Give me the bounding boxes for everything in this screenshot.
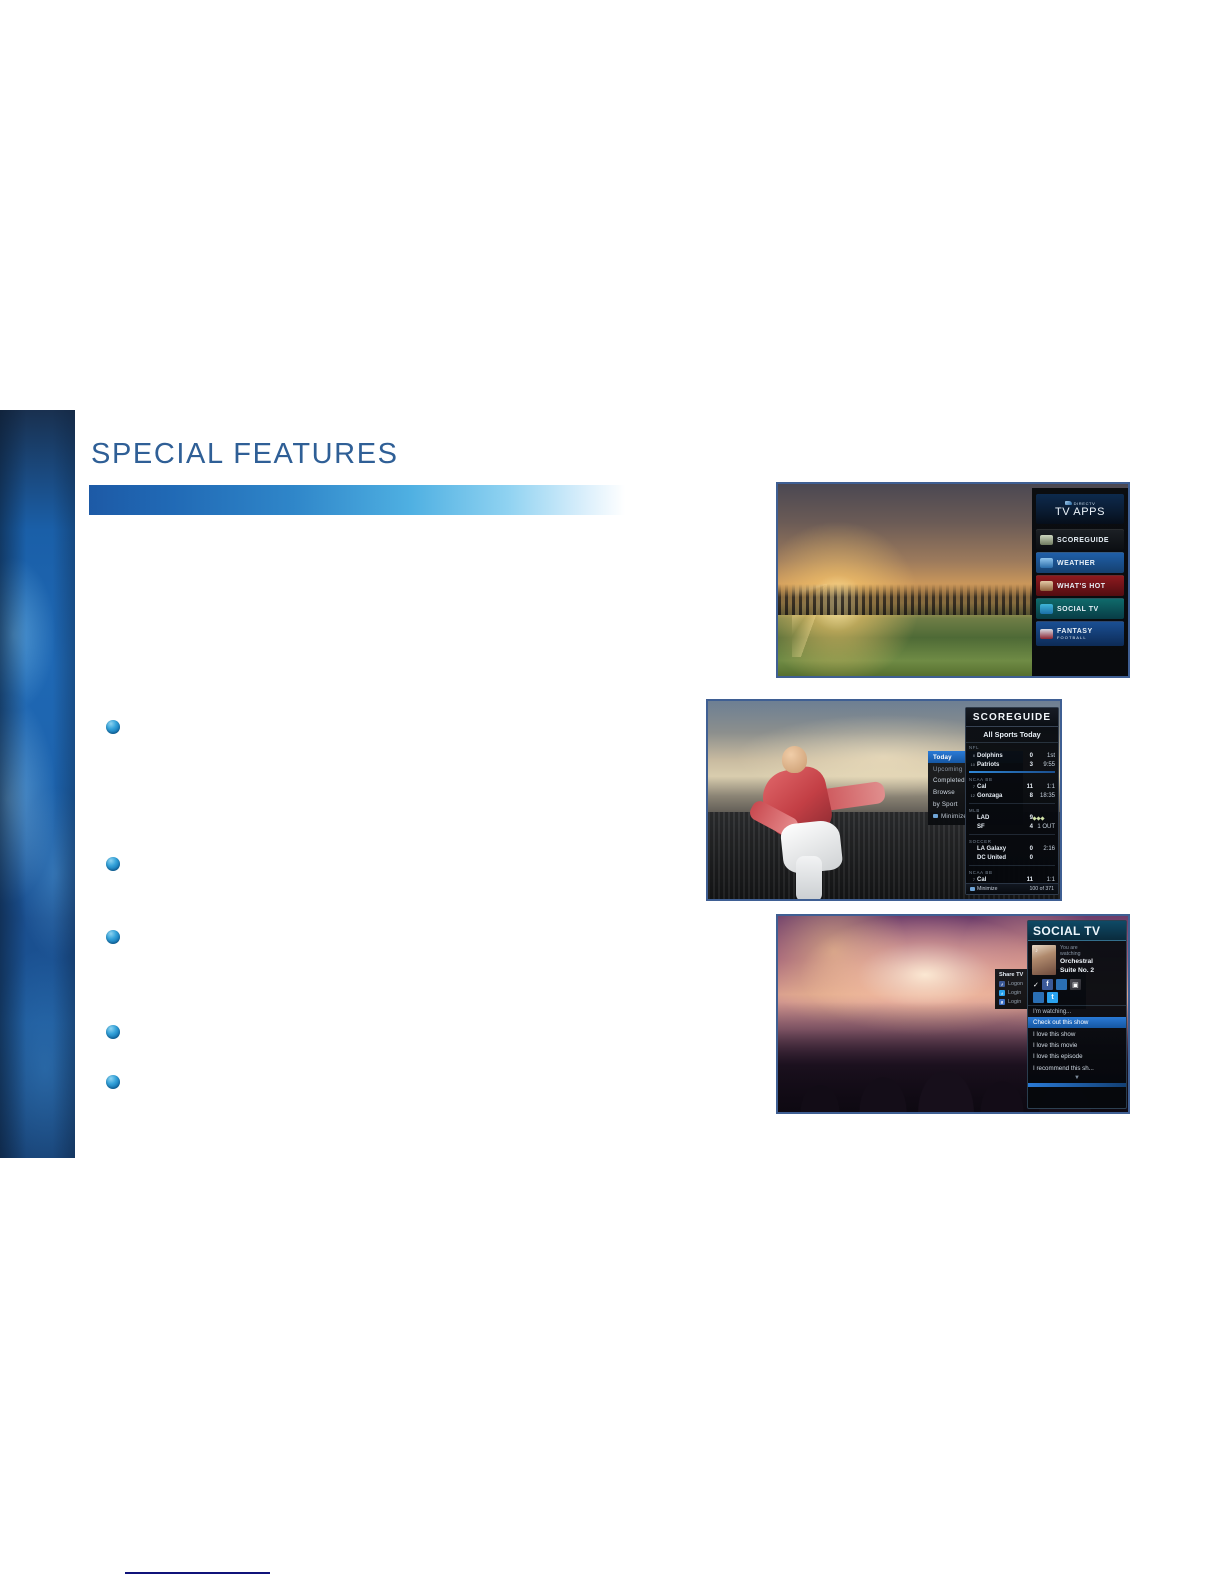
social-tv-panel: SOCIAL TV You are watching Orchestral Su… [1027, 920, 1127, 1109]
table-row[interactable]: 8 Dolphins 0 1st [969, 751, 1055, 760]
team-name: LAD [977, 814, 1021, 822]
league-label: SOCCER [969, 837, 1055, 845]
app-tile-label: SOCIAL TV [1057, 606, 1099, 613]
team-score: 8 [1021, 792, 1033, 800]
divider [969, 865, 1055, 866]
app-tile-social-tv[interactable]: SOCIAL TV [1036, 598, 1124, 619]
program-thumbnail [1032, 945, 1056, 975]
team-name: Dolphins [977, 752, 1021, 760]
table-row[interactable]: 7 Cal 11 1:1 [969, 783, 1055, 792]
bullet-dot-icon [106, 930, 120, 944]
checkbox-toggle[interactable] [1033, 992, 1044, 1003]
app-tile-fantasy-football[interactable]: FANTASY FOOTBALL [1036, 621, 1124, 646]
satellite-dish-icon [1065, 501, 1072, 505]
minimize-button[interactable]: Minimize [970, 886, 997, 892]
app-tile-label: WHAT'S HOT [1057, 583, 1106, 590]
table-row[interactable]: 7 Cal 11 1:1 [969, 876, 1055, 883]
team-name: Cal [977, 876, 1021, 883]
tv-apps-menu[interactable]: DIRECTV TV APPS SCOREGUIDE WEATHER WHAT'… [1032, 488, 1128, 676]
whats-hot-icon [1040, 581, 1053, 591]
table-row[interactable]: LAD 9 [969, 814, 1055, 823]
scoreguide-panel-title: SCOREGUIDE [966, 708, 1058, 727]
social-account-toggles[interactable]: ✓ f ▣ [1028, 979, 1126, 992]
team-name: Patriots [977, 761, 1021, 769]
checkmark-icon: ✓ [1033, 981, 1039, 989]
social-account-toggles-row2[interactable]: t [1028, 992, 1126, 1005]
app-tile-label-main: FANTASY [1057, 628, 1093, 635]
scoreguide-score-list[interactable]: NFL 8 Dolphins 0 1st 10 Patriots 3 9:55 … [966, 743, 1058, 883]
google-plus-icon: g [999, 999, 1005, 1005]
table-row[interactable]: DC United 0 [969, 854, 1055, 863]
now-watching-meta: You are watching Orchestral Suite No. 2 [1060, 945, 1122, 975]
figure-social-tv: Share TV f Logon t Login g Login SOCIAL … [776, 914, 1130, 1114]
facebook-icon[interactable]: f [1042, 979, 1053, 990]
compose-hint: I'm watching... [1028, 1005, 1126, 1017]
team-rank: 8 [969, 752, 975, 760]
soccer-player [743, 733, 891, 899]
figure-scoreguide: Today Upcoming Completed Browse by Sport… [706, 699, 1062, 901]
team-score: 0 [1021, 752, 1033, 760]
team-score: 0 [1021, 854, 1033, 862]
share-account-label: Login [1008, 999, 1021, 1005]
minimize-label: Minimize [977, 886, 997, 892]
game-status: 2:16 [1033, 845, 1055, 853]
game-status: 18:35 [1033, 792, 1055, 800]
scoreguide-footer: Minimize 100 of 371 [966, 883, 1058, 894]
app-tile-label: SCOREGUIDE [1057, 537, 1109, 544]
league-label: NCAA BB [969, 775, 1055, 783]
facebook-icon: f [999, 981, 1005, 987]
team-rank: 10 [969, 761, 975, 769]
twitter-icon: t [999, 990, 1005, 996]
app-tile-whats-hot[interactable]: WHAT'S HOT [1036, 575, 1124, 596]
minimize-icon [970, 887, 975, 891]
game-status: 1 OUT [1033, 823, 1055, 831]
divider [969, 771, 1055, 773]
app-tile-scoreguide[interactable]: SCOREGUIDE [1036, 529, 1124, 550]
game-status: 9:55 [1033, 761, 1055, 769]
program-title-line-2: Suite No. 2 [1060, 967, 1122, 975]
table-row[interactable]: 10 Patriots 3 9:55 [969, 760, 1055, 769]
app-tile-label: FANTASY FOOTBALL [1057, 628, 1093, 640]
team-rank: 12 [969, 792, 975, 800]
list-item [106, 1023, 626, 1039]
bullet-dot-icon [106, 1025, 120, 1039]
team-score: 11 [1021, 783, 1033, 791]
league-label: NFL [969, 743, 1055, 751]
message-option-love-show[interactable]: I love this show [1028, 1028, 1126, 1039]
app-tile-label-sub: FOOTBALL [1057, 635, 1093, 640]
program-title-line-1: Orchestral [1060, 958, 1122, 966]
scoreguide-panel-subtitle: All Sports Today [966, 727, 1058, 743]
game-status: 1:1 [1033, 783, 1055, 791]
social-tv-icon [1040, 604, 1053, 614]
player-head [782, 746, 807, 773]
tv-apps-header: DIRECTV TV APPS [1036, 494, 1124, 524]
list-item [106, 855, 626, 871]
table-row[interactable]: SF 4 1 OUT [969, 823, 1055, 832]
league-label: MLB [969, 806, 1055, 814]
bottom-accent-bar [1028, 1083, 1126, 1087]
bullet-dot-icon [106, 857, 120, 871]
footer-divider [125, 1572, 270, 1574]
tv-apps-title: TV APPS [1055, 506, 1105, 518]
instagram-icon[interactable]: ▣ [1070, 979, 1081, 990]
app-tile-weather[interactable]: WEATHER [1036, 552, 1124, 573]
scroll-down-caret-icon[interactable]: ▼ [1028, 1074, 1126, 1083]
league-label: NCAA BB [969, 868, 1055, 876]
team-score: 11 [1021, 876, 1033, 883]
menu-item-minimize-label: Minimize [941, 813, 967, 820]
game-status: 1st [1033, 752, 1055, 760]
player-standing-leg [796, 856, 821, 901]
message-option-love-episode[interactable]: I love this episode [1028, 1051, 1126, 1062]
share-account-label: Login [1008, 990, 1021, 996]
social-tv-panel-title: SOCIAL TV [1028, 921, 1126, 941]
message-option-love-movie[interactable]: I love this movie [1028, 1040, 1126, 1051]
table-row[interactable]: LA Galaxy 0 2:16 [969, 845, 1055, 854]
team-name: DC United [977, 854, 1021, 862]
bullet-dot-icon [106, 720, 120, 734]
now-watching-label-2: watching [1060, 951, 1122, 957]
team-score: 4 [1021, 823, 1033, 831]
twitter-icon[interactable]: t [1047, 992, 1058, 1003]
team-name: Cal [977, 783, 1021, 791]
baserunner-diamond-icon [1033, 817, 1055, 820]
team-score: 3 [1021, 761, 1033, 769]
result-count: 100 of 371 [1029, 886, 1054, 892]
checkbox-toggle[interactable] [1056, 979, 1067, 990]
table-row[interactable]: 12 Gonzaga 8 18:35 [969, 792, 1055, 801]
team-rank: 7 [969, 876, 975, 883]
message-option-check-out[interactable]: Check out this show [1028, 1017, 1126, 1028]
team-rank: 7 [969, 783, 975, 791]
list-item [106, 718, 626, 734]
now-watching-block: You are watching Orchestral Suite No. 2 [1028, 941, 1126, 979]
scoreguide-panel: SCOREGUIDE All Sports Today NFL 8 Dolphi… [965, 707, 1059, 895]
list-item [106, 928, 626, 944]
share-account-label: Logon [1008, 981, 1023, 987]
app-tile-label: WEATHER [1057, 560, 1095, 567]
minimize-icon [933, 814, 938, 818]
nfl-icon [1040, 629, 1053, 639]
team-name: LA Galaxy [977, 845, 1021, 853]
team-name: Gonzaga [977, 792, 1021, 800]
team-name: SF [977, 823, 1021, 831]
game-status: 1:1 [1033, 876, 1055, 883]
list-item [106, 1073, 626, 1089]
weather-icon [1040, 558, 1053, 568]
figure-tv-apps: DIRECTV TV APPS SCOREGUIDE WEATHER WHAT'… [776, 482, 1130, 678]
team-score: 0 [1021, 845, 1033, 853]
bullet-dot-icon [106, 1075, 120, 1089]
scoreguide-icon [1040, 535, 1053, 545]
message-option-recommend[interactable]: I recommend this sh... [1028, 1063, 1126, 1074]
divider [969, 834, 1055, 835]
divider [969, 803, 1055, 804]
